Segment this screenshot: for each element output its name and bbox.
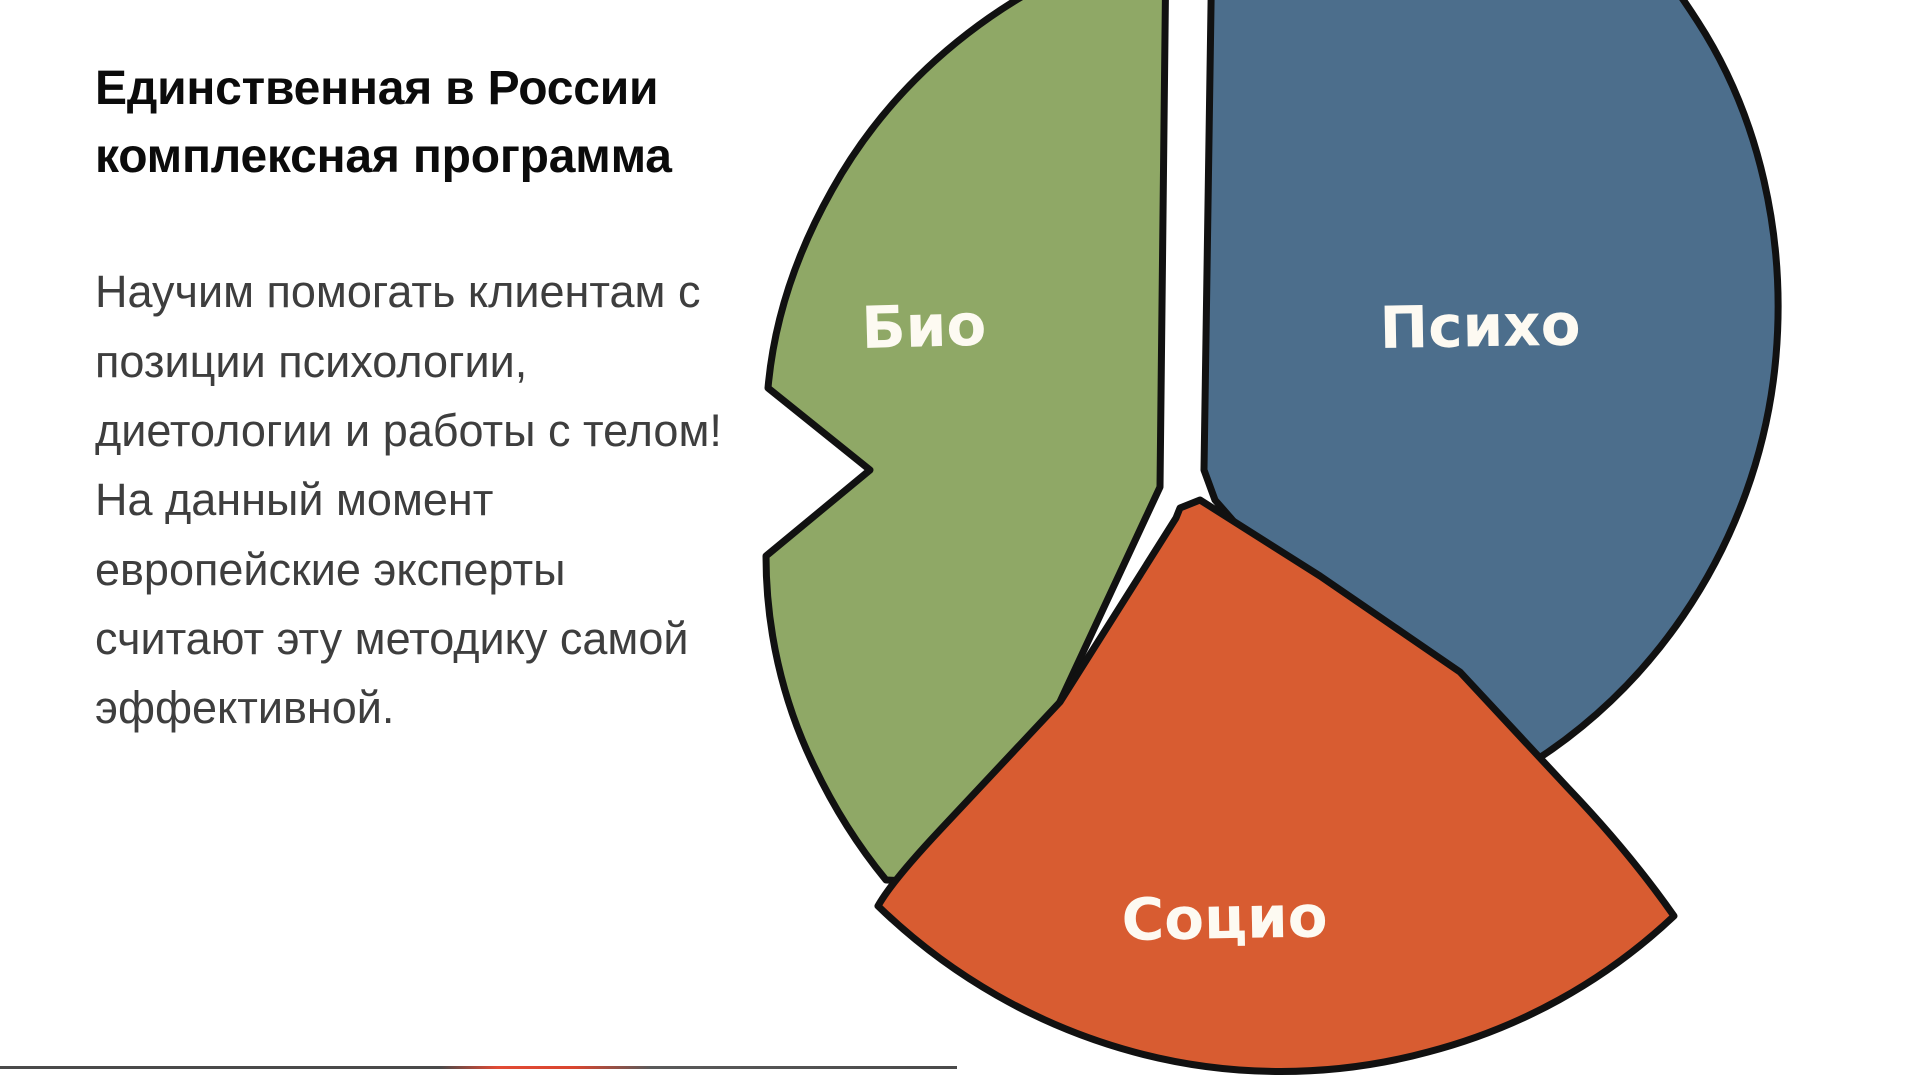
pie-slice-socio-label: Социо — [1121, 882, 1328, 954]
page-root: Единственная в России комплексная програ… — [0, 0, 1919, 1079]
pie-chart-column: Био Психо Социо — [760, 0, 1919, 1079]
page-title: Единственная в России комплексная програ… — [95, 55, 735, 191]
body-paragraph: Научим помогать клиентам с позиции психо… — [95, 257, 735, 742]
biopsychosocial-pie-chart: Био Психо Социо — [760, 0, 1919, 1079]
pie-slice-psycho-label: Психо — [1379, 291, 1581, 362]
pie-slice-bio-label: Био — [861, 291, 987, 362]
